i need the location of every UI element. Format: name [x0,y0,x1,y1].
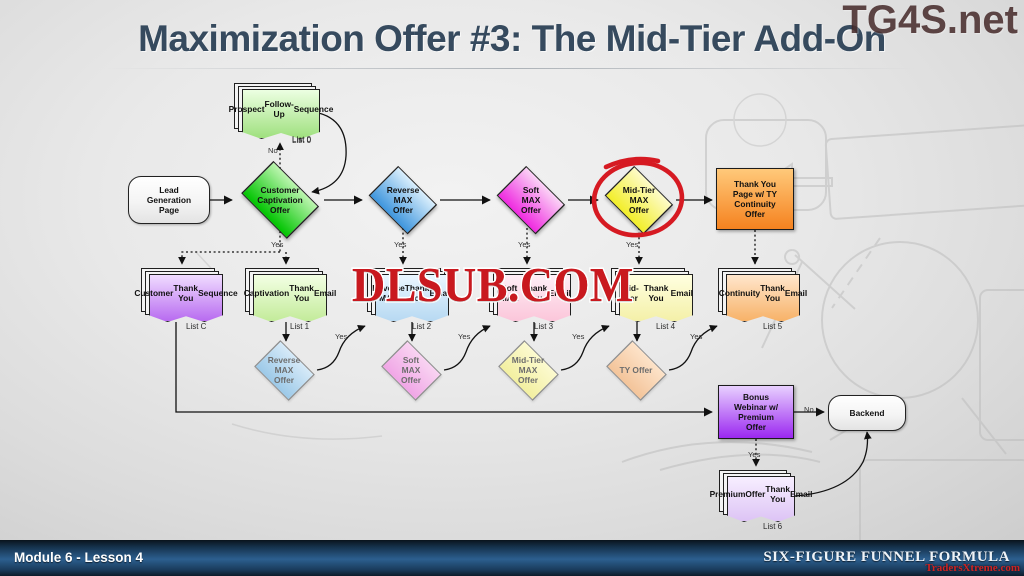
bonus-webinar-premium-offer-line: Premium [734,412,778,422]
watermark-tradersxtreme: TradersXtreme.com [925,562,1020,574]
captivation-thank-you-email-line: Captivation [244,288,290,298]
premium-offer-thank-you-email-line: Thank You [765,484,790,505]
edge-label-yes-soft-branch: Yes [458,332,470,341]
watermark-dlsub-fill: DLSUB.COM [352,256,634,312]
lead-generation-page-line: Generation [147,195,191,205]
backend-label: Backend [850,408,885,418]
captivation-thank-you-email-line: Email [314,288,336,298]
edge-label-yes-mid-branch: Yes [572,332,584,341]
list-caption-list-3: List 3 [534,322,553,331]
soft-max-offer[interactable]: SoftMAXOffer [494,172,568,228]
lead-generation-page-line: Lead [147,185,191,195]
soft-max-offer-line: Offer [521,205,541,215]
edge-label-yes-ty-branch: Yes [690,332,702,341]
mid-tier-max-offer-faded[interactable]: Mid-TierMAXOffer [495,345,561,395]
list-caption-list-1: List 1 [290,322,309,331]
prospect-follow-up-sequence-line: Sequence [294,104,334,114]
mid-tier-max-offer-faded-label: Mid-TierMAXOffer [512,355,544,386]
soft-max-offer-label: SoftMAXOffer [521,185,541,216]
edge-label-yes-reverse: Yes [394,240,406,249]
footer-module-lesson: Module 6 - Lesson 4 [14,550,143,565]
customer-captivation-offer-label: CustomerCaptivationOffer [257,185,303,216]
footer-bar: Module 6 - Lesson 4 Six-Figure Funnel Fo… [0,540,1024,576]
prospect-follow-up-sequence[interactable]: ProspectFollow-UpSequence [234,83,320,139]
reverse-max-offer[interactable]: ReverseMAXOffer [366,172,440,228]
list-caption-list-6: List 6 [763,522,782,531]
customer-thank-you-sequence-label: CustomerThank YouSequence [149,274,223,312]
mid-tier-max-offer-line: Offer [623,205,655,215]
reverse-max-offer-line: Offer [387,205,420,215]
continuity-thank-you-email-label: ContinuityThank YouEmail [726,274,800,312]
mid-tier-max-offer-line: Mid-Tier [623,185,655,195]
watermark-dlsub: DLSUB.COM DLSUB.COM [352,256,634,312]
soft-max-offer-line: Soft [521,185,541,195]
watermark-tg4s: TG4S.net [842,0,1018,43]
reverse-max-offer-faded-line: Offer [268,375,301,385]
prospect-follow-up-sequence-label: ProspectFollow-UpSequence [242,89,320,129]
customer-captivation-offer-line: Customer [257,185,303,195]
mid-tier-max-offer-line: MAX [623,195,655,205]
thank-you-page-ty-continuity-offer-label: Thank YouPage w/ TYContinuityOffer [733,179,777,220]
thank-you-page-ty-continuity-offer[interactable]: Thank YouPage w/ TYContinuityOffer [716,168,794,230]
mid-tier-max-offer[interactable]: Mid-TierMAXOffer [602,172,676,228]
premium-offer-thank-you-email-line: Email [790,489,812,499]
thank-you-page-ty-continuity-offer-line: Offer [733,209,777,219]
continuity-thank-you-email[interactable]: ContinuityThank YouEmail [718,268,800,322]
prospect-follow-up-sequence-line: Prospect [229,104,265,114]
list-caption-list-c: List C [186,322,206,331]
reverse-max-offer-faded-line: Reverse [268,355,301,365]
customer-thank-you-sequence-line: Thank You [173,283,198,304]
edge-label-yes-premium: Yes [748,450,760,459]
reverse-max-offer-label: ReverseMAXOffer [387,185,420,216]
slide-canvas: Maximization Offer #3: The Mid-Tier Add-… [0,0,1024,576]
bonus-webinar-premium-offer-line: Webinar w/ [734,402,778,412]
edge-label-no-backend: No [804,405,814,414]
soft-max-offer-faded-line: MAX [401,365,421,375]
backend-line: Backend [850,408,885,418]
edge-label-yes-captivation: Yes [271,240,283,249]
mid-tier-thank-you-email-line: Email [671,288,693,298]
edge-label-yes-midtier: Yes [626,240,638,249]
ty-offer-faded-line: TY Offer [620,365,653,375]
edge-label-no-prospect: No [268,146,278,155]
continuity-thank-you-email-line: Email [785,288,807,298]
premium-offer-thank-you-email-label: PremiumOfferThank YouEmail [727,476,795,512]
customer-captivation-offer-line: Captivation [257,195,303,205]
reverse-max-offer-line: MAX [387,195,420,205]
customer-thank-you-sequence-line: Customer [134,288,173,298]
customer-thank-you-sequence[interactable]: CustomerThank YouSequence [141,268,223,322]
customer-thank-you-sequence-line: Sequence [198,288,238,298]
list-caption-list-2: List 2 [412,322,431,331]
reverse-max-offer-line: Reverse [387,185,420,195]
lead-generation-page-label: LeadGenerationPage [147,185,191,216]
premium-offer-thank-you-email-line: Offer [745,489,765,499]
thank-you-page-ty-continuity-offer-line: Thank You [733,179,777,189]
mid-tier-max-offer-faded-line: Offer [512,375,544,385]
soft-max-offer-faded[interactable]: SoftMAXOffer [378,345,444,395]
bonus-webinar-premium-offer-line: Bonus [734,392,778,402]
bonus-webinar-premium-offer-line: Offer [734,422,778,432]
backend[interactable]: Backend [828,395,906,431]
mid-tier-max-offer-faded-line: MAX [512,365,544,375]
reverse-max-offer-faded-label: ReverseMAXOffer [268,355,301,386]
soft-max-offer-faded-line: Offer [401,375,421,385]
list-caption-list-4: List 4 [656,322,675,331]
premium-offer-thank-you-email[interactable]: PremiumOfferThank YouEmail [719,470,795,522]
ty-offer-faded[interactable]: TY Offer [603,345,669,395]
reverse-max-offer-faded[interactable]: ReverseMAXOffer [251,345,317,395]
mid-tier-max-offer-faded-line: Mid-Tier [512,355,544,365]
reverse-max-offer-faded-line: MAX [268,365,301,375]
edge-label-yes-soft: Yes [518,240,530,249]
captivation-thank-you-email[interactable]: CaptivationThank YouEmail [245,268,327,322]
soft-max-offer-line: MAX [521,195,541,205]
captivation-thank-you-email-label: CaptivationThank YouEmail [253,274,327,312]
thank-you-page-ty-continuity-offer-line: Page w/ TY [733,189,777,199]
list-caption-list-5: List 5 [763,322,782,331]
lead-generation-page[interactable]: LeadGenerationPage [128,176,210,224]
continuity-thank-you-email-line: Continuity [719,288,760,298]
edge-label-yes-rev-branch: Yes [335,332,347,341]
continuity-thank-you-email-line: Thank You [760,283,785,304]
bonus-webinar-premium-offer-label: BonusWebinar w/PremiumOffer [734,392,778,433]
prospect-follow-up-sequence-line: Follow-Up [264,99,293,120]
mid-tier-max-offer-label: Mid-TierMAXOffer [623,185,655,216]
ty-offer-faded-label: TY Offer [620,365,653,375]
customer-captivation-offer-line: Offer [257,205,303,215]
list-caption-list0: List 0 [292,135,311,144]
lead-generation-page-line: Page [147,205,191,215]
premium-offer-thank-you-email-line: Premium [710,489,746,499]
mid-tier-thank-you-email-line: Thank You [641,283,670,304]
customer-captivation-offer[interactable]: CustomerCaptivationOffer [236,169,324,231]
soft-max-offer-faded-line: Soft [401,355,421,365]
thank-you-page-ty-continuity-offer-line: Continuity [733,199,777,209]
captivation-thank-you-email-line: Thank You [289,283,314,304]
soft-max-offer-faded-label: SoftMAXOffer [401,355,421,386]
bonus-webinar-premium-offer[interactable]: BonusWebinar w/PremiumOffer [718,385,794,439]
